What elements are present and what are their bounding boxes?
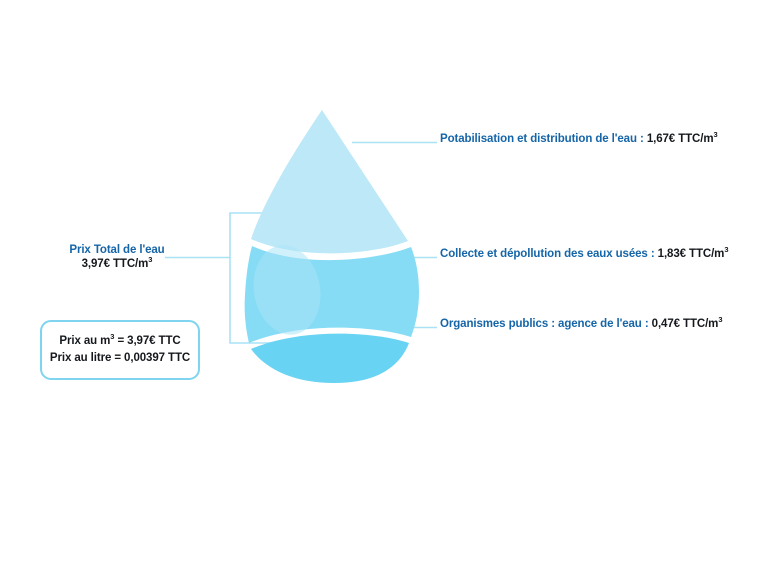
callout-organismes: Organismes publics : agence de l'eau : 0…: [440, 319, 722, 331]
infographic-canvas: Potabilisation et distribution de l'eau …: [0, 0, 768, 576]
callout-potabilisation-exponent: 3: [713, 130, 717, 139]
diagram-vector-layer: [0, 0, 768, 576]
price-box-line-litre: Prix au litre = 0,00397 TTC: [50, 350, 190, 367]
price-box-line-cubic-meter: Prix au m3 = 3,97€ TTC: [59, 333, 180, 350]
price-box-line1-suffix: = 3,97€ TTC: [114, 335, 180, 347]
callout-potabilisation-description: Potabilisation et distribution de l'eau …: [440, 133, 647, 145]
callout-organismes-exponent: 3: [718, 315, 722, 324]
callout-organismes-price: 0,47€ TTC/m: [652, 318, 719, 330]
callout-collecte-exponent: 3: [724, 245, 728, 254]
total-price-title: Prix Total de l'eau: [62, 243, 172, 257]
callout-collecte-description: Collecte et dépollution des eaux usées :: [440, 248, 658, 260]
water-drop-icon: [245, 110, 419, 383]
total-price-label: Prix Total de l'eau 3,97€ TTC/m3: [62, 243, 172, 272]
callout-collecte-price: 1,83€ TTC/m: [658, 248, 725, 260]
total-price-exponent: 3: [148, 256, 152, 265]
price-summary-box: Prix au m3 = 3,97€ TTC Prix au litre = 0…: [40, 320, 200, 380]
total-price-value: 3,97€ TTC/m3: [62, 257, 172, 271]
callout-organismes-description: Organismes publics : agence de l'eau :: [440, 318, 652, 330]
price-box-line1-prefix: Prix au m: [59, 335, 110, 347]
total-price-amount: 3,97€ TTC/m: [82, 258, 149, 270]
drop-segment-top: [251, 110, 408, 253]
callout-collecte: Collecte et dépollution des eaux usées :…: [440, 249, 728, 261]
callout-potabilisation: Potabilisation et distribution de l'eau …: [440, 134, 718, 146]
callout-potabilisation-price: 1,67€ TTC/m: [647, 133, 714, 145]
drop-segment-bottom: [251, 334, 409, 383]
